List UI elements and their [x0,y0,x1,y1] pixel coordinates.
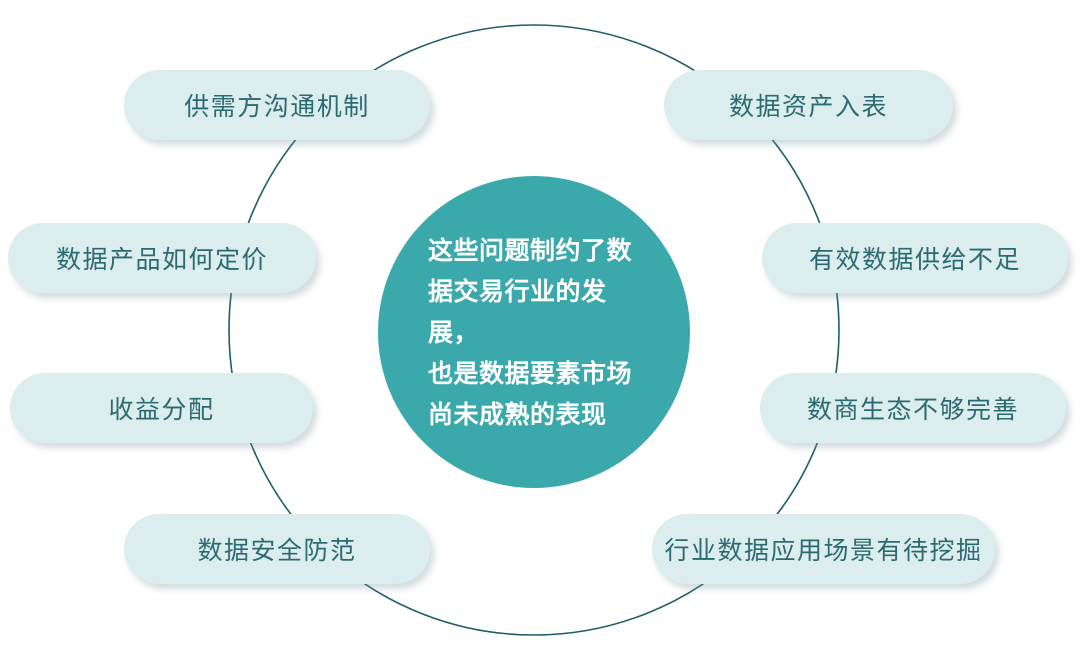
node-label: 收益分配 [108,390,214,426]
center-hub: 这些问题制约了数 据交易行业的发展， 也是数据要素市场 尚未成熟的表现 [378,176,690,488]
node-label: 有效数据供给不足 [809,240,1021,276]
node-data-asset-capitalization[interactable]: 数据资产入表 [664,70,953,140]
node-label: 行业数据应用场景有待挖掘 [664,531,982,567]
node-revenue-distribution[interactable]: 收益分配 [10,373,313,443]
node-label: 数据资产入表 [729,87,888,123]
node-label: 供需方沟通机制 [184,87,370,123]
diagram-canvas: 这些问题制约了数 据交易行业的发展， 也是数据要素市场 尚未成熟的表现 供需方沟… [0,0,1080,653]
center-hub-label: 这些问题制约了数 据交易行业的发展， 也是数据要素市场 尚未成熟的表现 [428,230,640,435]
node-supply-demand-communication[interactable]: 供需方沟通机制 [124,70,430,140]
node-data-security-protection[interactable]: 数据安全防范 [124,514,430,584]
node-insufficient-data-supply[interactable]: 有效数据供给不足 [762,223,1068,293]
node-label: 数据产品如何定价 [56,240,268,276]
node-data-product-pricing[interactable]: 数据产品如何定价 [8,223,316,293]
node-label: 数商生态不够完善 [807,390,1019,426]
node-industry-application-scenarios[interactable]: 行业数据应用场景有待挖掘 [652,514,995,584]
node-immature-data-broker-ecosystem[interactable]: 数商生态不够完善 [760,373,1066,443]
node-label: 数据安全防范 [197,531,356,567]
